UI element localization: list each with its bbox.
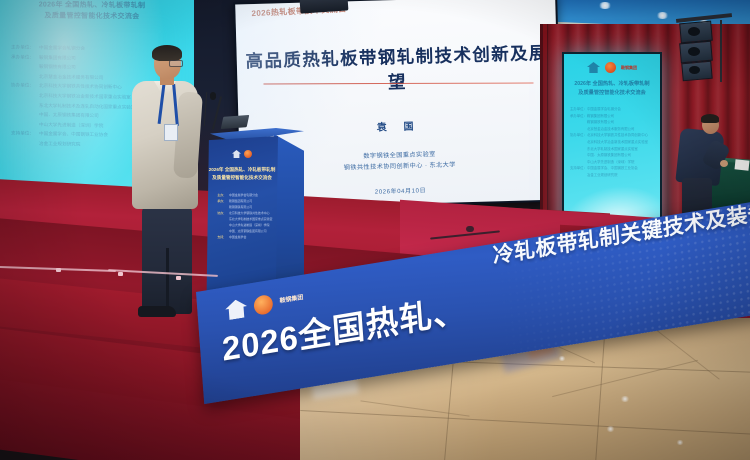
right-led-title: 2026年 全国热轧、冷轧板带轧制 及质量管控智能化技术交流会 — [568, 80, 656, 98]
right-led-credits: 主办单位：中国金属学会轧钢分会 承办单位：鞍钢集团有限公司 鞍钢钢铁有限公司 北… — [570, 106, 654, 179]
line-array-speaker — [676, 16, 732, 82]
list-item: 鞍钢钢铁有限公司 — [570, 119, 654, 126]
list-item: 中国．太原钢铁集团有限公司 — [570, 152, 654, 159]
ansteel-logo-text: 鞍钢集团 — [621, 65, 637, 71]
podium-logos — [206, 150, 278, 158]
list-item: 支持：中国金属学会 — [210, 234, 274, 240]
podium-credits: 主办：中国金属学会轧钢分会 承办：鞍钢集团有限公司 鞍钢钢铁有限公司 协办：北京… — [210, 192, 274, 240]
cable-clip — [56, 268, 61, 272]
conference-hall-photo: 2026年 全国热轧、冷轧板带轧制 及质量管控智能化技术交流会 主办单位：中国金… — [0, 0, 750, 460]
list-item: 东北大学轧制技术国家重点实验室 — [570, 146, 654, 153]
floor-specular-highlight — [676, 440, 684, 445]
person-hand — [720, 160, 728, 167]
speaker-cone — [688, 27, 700, 36]
ansteel-logo-icon — [605, 62, 616, 73]
person-leg-separation — [166, 248, 169, 308]
person-hair — [152, 45, 182, 61]
ansteel-logo-icon — [253, 294, 273, 316]
podium-title: 2026年 全国热轧、冷轧板带轧制 及质量管控智能化技术交流会 — [208, 166, 276, 182]
cable-clip — [176, 276, 181, 280]
name-badge — [164, 124, 178, 141]
list-item: 协办单位：北京科技大学钢铁共性技术协同创新中心 — [570, 132, 654, 139]
ansteel-logo-text: 鞍钢集团 — [279, 295, 303, 306]
person-shoe — [138, 306, 176, 317]
floor-tile-seam — [300, 410, 750, 435]
ironman-logo-icon — [587, 62, 600, 73]
speaker-cone — [688, 47, 700, 56]
list-item: 承办单位：鞍钢集团有限公司 — [570, 113, 654, 120]
list-item: 主办单位：中国金属学会轧钢分会 — [570, 106, 654, 113]
list-item: 北京科技大学冶金新技术国家重点实验室 — [570, 139, 654, 146]
eyeglasses — [169, 60, 183, 67]
floor-specular-highlight — [558, 356, 566, 361]
right-led-panel: 鞍钢集团 2026年 全国热轧、冷轧板带轧制 及质量管控智能化技术交流会 主办单… — [562, 52, 662, 234]
floor-specular-highlight — [606, 426, 615, 432]
list-item: 支持单位：中国金属学会、中国钢铁工业协会 — [570, 165, 654, 172]
person-hair — [701, 114, 719, 123]
slide-header: 2026热轧板带技术交流会 — [251, 0, 451, 19]
ironman-logo-icon — [225, 298, 248, 321]
cable-clip — [118, 272, 123, 276]
floor-specular-highlight — [620, 396, 630, 402]
list-item: 北京慧金冶金技术服务有限公司 — [570, 126, 654, 133]
list-item: 中山大学先进制造（深圳）学院 — [570, 159, 654, 166]
ironman-logo-icon — [232, 150, 241, 158]
recessed-downlight — [656, 12, 669, 19]
speaker-pole — [720, 20, 722, 82]
ansteel-logo-icon — [244, 150, 252, 158]
right-led-logos: 鞍钢集团 — [564, 62, 660, 73]
speaker-cone — [689, 66, 700, 74]
presenter-laptop — [221, 115, 250, 129]
recessed-downlight — [598, 2, 612, 9]
slide-title: 高品质热轧板带钢轧制技术创新及展望 — [236, 40, 557, 99]
floor-cable — [466, 226, 474, 232]
microphone-head — [210, 92, 216, 100]
